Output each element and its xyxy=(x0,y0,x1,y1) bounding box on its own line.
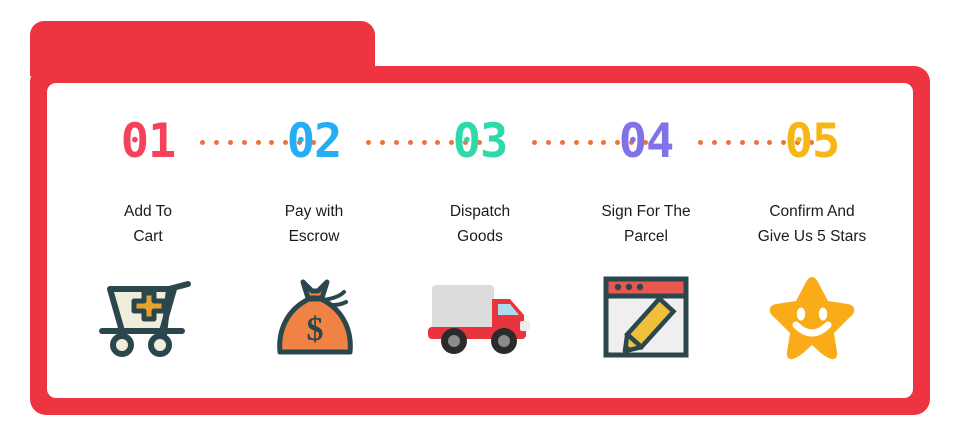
browser-pencil-icon xyxy=(601,273,691,361)
step-label: Dispatch Goods xyxy=(400,199,560,249)
step-label: Add To Cart xyxy=(68,199,228,249)
step-label-line1: Pay with xyxy=(285,203,344,220)
step-label-line1: Add To xyxy=(124,203,172,220)
step-item: 03 Dispatch Goods xyxy=(397,83,563,363)
smiling-star-icon xyxy=(766,273,858,361)
step-number: 04 xyxy=(619,117,674,167)
step-label-line1: Sign For The xyxy=(601,203,690,220)
svg-text:$: $ xyxy=(307,311,324,348)
step-icon xyxy=(420,271,540,363)
step-label: Confirm And Give Us 5 Stars xyxy=(732,199,892,249)
step-number: 01 xyxy=(121,117,176,167)
step-label-line2: Escrow xyxy=(289,228,340,245)
delivery-truck-icon xyxy=(424,275,536,359)
step-item: 02 Pay with Escrow $ xyxy=(231,83,397,363)
steps-row: 01 Add To Cart xyxy=(47,83,913,398)
money-bag-icon: $ xyxy=(268,272,360,362)
step-item: 01 Add To Cart xyxy=(65,83,231,363)
step-label-line1: Confirm And xyxy=(769,203,854,220)
step-label: Pay with Escrow xyxy=(234,199,394,249)
shopping-cart-icon xyxy=(96,275,200,359)
step-icon xyxy=(752,271,872,363)
step-number: 02 xyxy=(287,117,342,167)
step-label: Sign For The Parcel xyxy=(566,199,726,249)
step-icon xyxy=(586,271,706,363)
step-number: 03 xyxy=(453,117,508,167)
step-label-line2: Goods xyxy=(457,228,503,245)
step-icon: $ xyxy=(254,271,374,363)
step-number: 05 xyxy=(785,117,840,167)
step-item: 05 Confirm And Give Us 5 Stars xyxy=(729,83,895,363)
step-item: 04 Sign For The Parcel xyxy=(563,83,729,363)
step-label-line2: Parcel xyxy=(624,228,668,245)
step-label-line2: Cart xyxy=(133,228,162,245)
step-number-row: 01 xyxy=(65,111,231,173)
step-label-line2: Give Us 5 Stars xyxy=(758,228,867,245)
header-tab xyxy=(30,21,375,76)
step-icon xyxy=(88,271,208,363)
step-label-line1: Dispatch xyxy=(450,203,510,220)
shopping-guide-banner: Shopping Guide 01 Add To Cart xyxy=(0,0,960,432)
